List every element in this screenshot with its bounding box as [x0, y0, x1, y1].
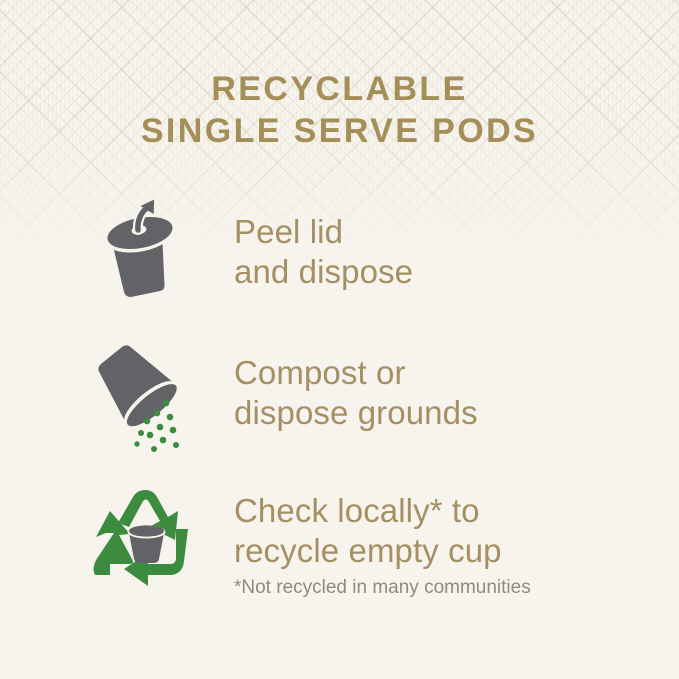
step-3-footnote: *Not recycled in many communities	[234, 576, 646, 600]
step-check-locally: Check locally* to recycle empty cup *Not…	[86, 483, 646, 600]
pod-dispose-grounds-icon	[88, 333, 204, 457]
recycle-pod-icon	[92, 483, 200, 589]
recyclable-pods-poster: RECYCLABLE SINGLE SERVE PODS Peel lid	[0, 0, 679, 679]
step-1-icon-slot	[86, 196, 206, 300]
step-3-line-1: Check locally* to	[234, 491, 646, 531]
step-1-text: Peel lid and dispose	[206, 196, 646, 292]
step-1-line-1: Peel lid	[234, 212, 646, 252]
step-2-icon-slot	[86, 333, 206, 457]
step-peel-lid: Peel lid and dispose	[86, 196, 646, 300]
step-3-icon-slot	[86, 483, 206, 589]
page-title: RECYCLABLE SINGLE SERVE PODS	[0, 68, 679, 152]
step-dispose-grounds: Compost or dispose grounds	[86, 333, 646, 457]
page-title-line-1: RECYCLABLE	[0, 68, 679, 110]
step-1-line-2: and dispose	[234, 252, 646, 292]
step-3-line-2: recycle empty cup	[234, 531, 646, 571]
pod-peel-lid-icon	[94, 196, 198, 300]
page-title-line-2: SINGLE SERVE PODS	[0, 110, 679, 152]
step-2-text: Compost or dispose grounds	[206, 333, 646, 433]
step-3-text: Check locally* to recycle empty cup *Not…	[206, 483, 646, 600]
step-2-line-2: dispose grounds	[234, 393, 646, 433]
step-2-line-1: Compost or	[234, 353, 646, 393]
